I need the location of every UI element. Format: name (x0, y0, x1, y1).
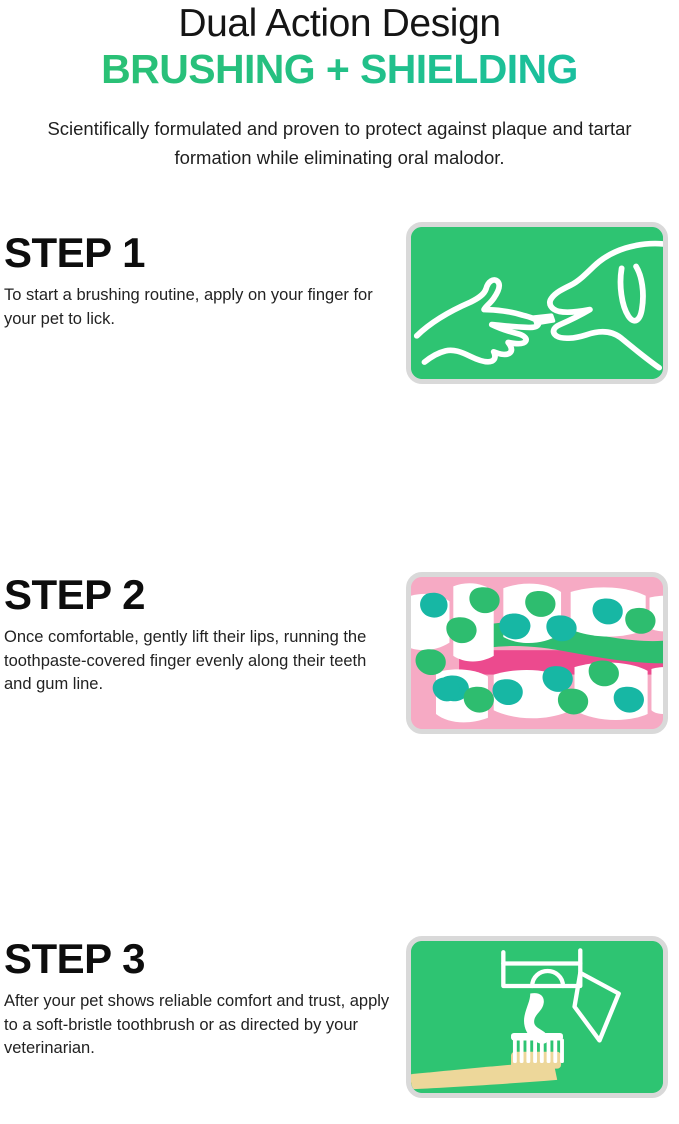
header-block: Dual Action Design BRUSHING + SHIELDING … (0, 0, 679, 172)
hand-pointing-at-dog-icon (411, 227, 663, 379)
step-heading: STEP 1 (4, 230, 396, 276)
step-1-image-panel (406, 222, 668, 384)
page-title: Dual Action Design (0, 2, 679, 46)
step-description: To start a brushing routine, apply on yo… (4, 284, 396, 331)
step-heading: STEP 2 (4, 572, 396, 618)
steps-list: STEP 1 To start a brushing routine, appl… (0, 218, 679, 760)
step-3-image-panel (406, 936, 668, 1098)
toothpaste-tube-and-toothbrush-icon (411, 941, 663, 1093)
teeth-and-gums-icon (411, 577, 663, 729)
step-text-block: STEP 1 To start a brushing routine, appl… (4, 230, 396, 331)
step-row: STEP 3 After your pet shows reliable com… (0, 936, 679, 1124)
step-row: STEP 1 To start a brushing routine, appl… (0, 218, 679, 390)
step-description: Once comfortable, gently lift their lips… (4, 626, 396, 697)
step-text-block: STEP 2 Once comfortable, gently lift the… (4, 572, 396, 697)
step-text-block: STEP 3 After your pet shows reliable com… (4, 936, 396, 1061)
step-row: STEP 2 Once comfortable, gently lift the… (0, 572, 679, 754)
page-subtitle: BRUSHING + SHIELDING (0, 46, 679, 92)
step-heading: STEP 3 (4, 936, 396, 982)
step-2-image-panel (406, 572, 668, 734)
step-description: After your pet shows reliable comfort an… (4, 990, 396, 1061)
intro-paragraph: Scientifically formulated and proven to … (20, 114, 660, 172)
